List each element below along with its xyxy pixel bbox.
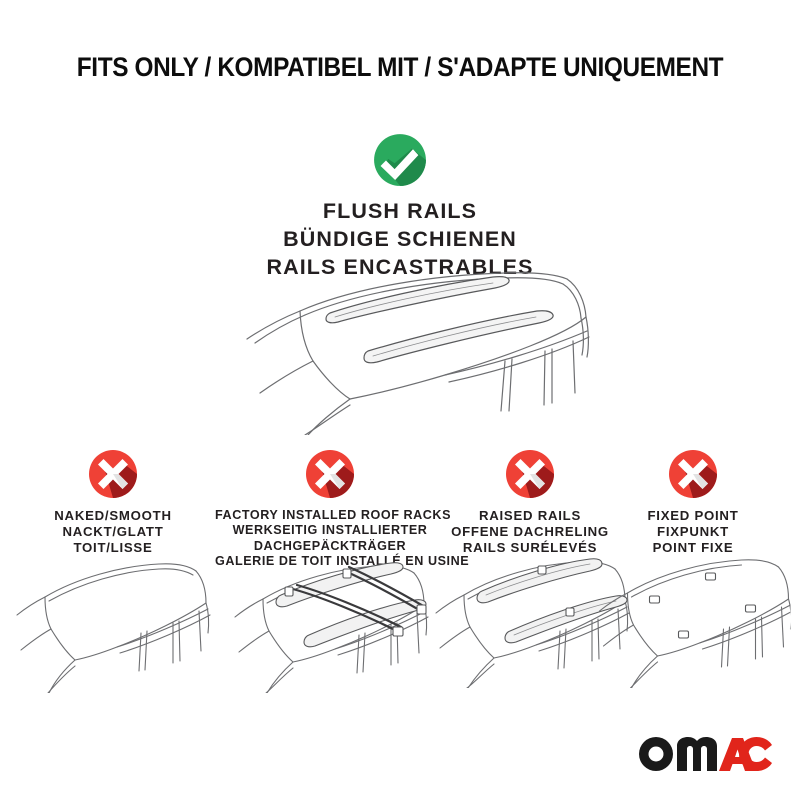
car-roof-naked-smooth-illustration <box>13 553 213 693</box>
page-title: FITS ONLY / KOMPATIBEL MIT / S'ADAPTE UN… <box>32 52 768 83</box>
compatibility-infographic: FITS ONLY / KOMPATIBEL MIT / S'ADAPTE UN… <box>0 0 800 800</box>
label-line-en: NAKED/SMOOTH <box>13 508 213 524</box>
incompatible-section-naked-smooth: NAKED/SMOOTH NACKT/GLATT TOIT/LISSE <box>13 449 213 556</box>
cross-circle-icon <box>13 449 213 499</box>
car-roof-factory-rack-illustration <box>225 543 435 693</box>
label-line-en: FIXED POINT <box>620 508 766 524</box>
compatible-label-de: BÜNDIGE SCHIENEN <box>0 226 800 254</box>
label-line-de-1: WERKSEITIG INSTALLIERTER <box>215 523 445 538</box>
compatible-section: FLUSH RAILS BÜNDIGE SCHIENEN RAILS ENCAS… <box>0 133 800 282</box>
cross-circle-icon <box>442 449 618 499</box>
incompatible-sections: NAKED/SMOOTH NACKT/GLATT TOIT/LISSE <box>0 449 800 749</box>
car-roof-flush-rails-illustration <box>205 265 605 435</box>
check-circle-icon <box>0 133 800 187</box>
label-line-de: OFFENE DACHRELING <box>442 524 618 540</box>
omac-logo <box>634 734 774 774</box>
label-line-en: RAISED RAILS <box>442 508 618 524</box>
incompatible-section-fixed-point: FIXED POINT FIXPUNKT POINT FIXE <box>620 449 766 556</box>
car-roof-fixed-point-illustration <box>596 543 791 688</box>
cross-circle-icon <box>215 449 445 499</box>
compatible-label-en: FLUSH RAILS <box>0 198 800 226</box>
label-line-de: FIXPUNKT <box>620 524 766 540</box>
cross-circle-icon <box>620 449 766 499</box>
label-line-en: FACTORY INSTALLED ROOF RACKS <box>215 508 445 523</box>
incompatible-labels: NAKED/SMOOTH NACKT/GLATT TOIT/LISSE <box>13 508 213 556</box>
label-line-de: NACKT/GLATT <box>13 524 213 540</box>
incompatible-section-raised-rails: RAISED RAILS OFFENE DACHRELING RAILS SUR… <box>442 449 618 556</box>
incompatible-section-factory-rack: FACTORY INSTALLED ROOF RACKS WERKSEITIG … <box>215 449 445 569</box>
